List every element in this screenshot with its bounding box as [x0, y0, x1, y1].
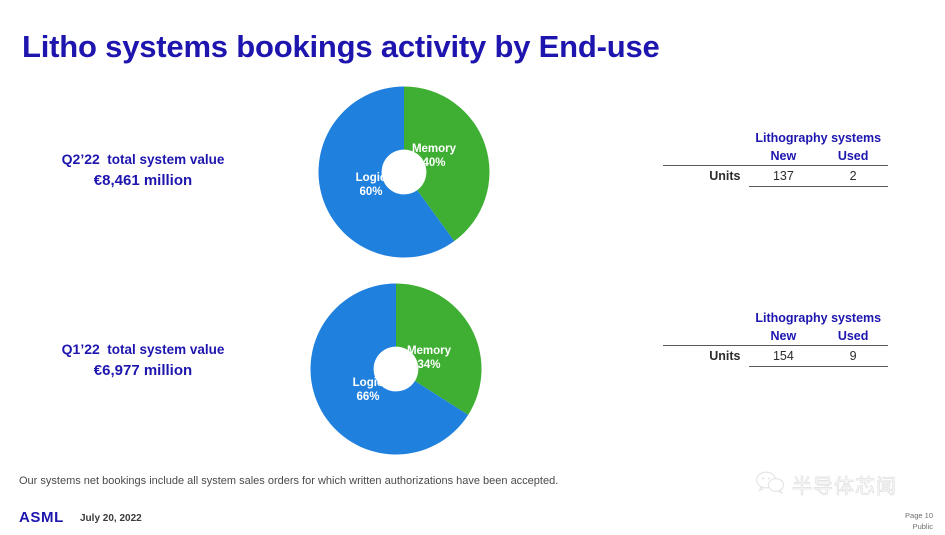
table-cell-used-q1: 9: [818, 346, 888, 367]
summary-line-q2: Q2’22 total system value: [8, 149, 278, 170]
page-title: Litho systems bookings activity by End-u…: [22, 29, 660, 65]
slice-label-logic-value-q1: 66%: [356, 391, 379, 403]
quarter-label-q1: Q1’22: [62, 341, 100, 357]
slice-label-logic-name-q1: Logic: [353, 377, 384, 389]
watermark: 半导体芯闻: [755, 470, 897, 499]
wechat-icon: [755, 470, 785, 499]
units-table-grid-q1: Lithography systems New Used Units 154 9: [663, 310, 888, 367]
page-number: Page 10: [905, 510, 933, 521]
slice-label-logic-value-q2: 60%: [359, 186, 382, 198]
table-corner-q2: [663, 148, 749, 166]
summary-value-q2: Q2’22 total system value €8,461 million: [8, 149, 278, 191]
donut-svg-q2: Memory 40% Logic 60%: [318, 86, 490, 258]
summary-amount-q1: €6,977 million: [8, 360, 278, 382]
summary-value-q1: Q1’22 total system value €6,977 million: [8, 339, 278, 381]
slice-label-memory-name-q1: Memory: [407, 345, 452, 357]
donut-chart-q2: Memory 40% Logic 60%: [318, 86, 490, 258]
table-cell-new-q1: 154: [749, 346, 819, 367]
asml-logo: ASML: [19, 509, 64, 526]
table-column-header-row-q1: New Used: [663, 328, 888, 346]
table-corner-q1: [663, 328, 749, 346]
slide-canvas: Litho systems bookings activity by End-u…: [0, 0, 945, 535]
units-table-q1: Lithography systems New Used Units 154 9: [663, 310, 888, 367]
summary-caption-q2: total system value: [107, 152, 224, 167]
quarter-label-q2: Q2’22: [62, 151, 100, 167]
table-column-header-row-q2: New Used: [663, 148, 888, 166]
footer-date: July 20, 2022: [80, 513, 142, 524]
slice-label-memory-name-q2: Memory: [412, 143, 457, 155]
table-group-header-q2: Lithography systems: [749, 130, 889, 148]
table-cell-used-q2: 2: [818, 166, 888, 187]
donut-chart-q1: Memory 34% Logic 66%: [310, 283, 482, 455]
classification-label: Public: [905, 521, 933, 532]
units-table-grid-q2: Lithography systems New Used Units 137 2: [663, 130, 888, 187]
table-row-label-units-q2: Units: [663, 166, 749, 187]
slice-label-logic-name-q2: Logic: [356, 172, 387, 184]
slice-label-memory-value-q2: 40%: [422, 157, 445, 169]
summary-amount-q2: €8,461 million: [8, 170, 278, 192]
table-row: Units 154 9: [663, 346, 888, 367]
summary-line-q1: Q1’22 total system value: [8, 339, 278, 360]
table-cell-new-q2: 137: [749, 166, 819, 187]
units-table-q2: Lithography systems New Used Units 137 2: [663, 130, 888, 187]
summary-caption-q1: total system value: [107, 342, 224, 357]
table-group-header-row-q2: Lithography systems: [663, 130, 888, 148]
footnote-text: Our systems net bookings include all sys…: [19, 475, 558, 487]
table-col-header-new-q2: New: [749, 148, 819, 166]
table-spacer-q1: [663, 310, 749, 328]
table-group-header-q1: Lithography systems: [749, 310, 889, 328]
donut-svg-q1: Memory 34% Logic 66%: [310, 283, 482, 455]
table-col-header-new-q1: New: [749, 328, 819, 346]
footer-meta: Page 10 Public: [905, 510, 933, 533]
table-col-header-used-q2: Used: [818, 148, 888, 166]
table-row-label-units-q1: Units: [663, 346, 749, 367]
donut-hole-q2: [382, 150, 427, 195]
table-row: Units 137 2: [663, 166, 888, 187]
table-col-header-used-q1: Used: [818, 328, 888, 346]
slice-label-memory-value-q1: 34%: [417, 359, 440, 371]
watermark-text: 半导体芯闻: [792, 470, 897, 499]
table-group-header-row-q1: Lithography systems: [663, 310, 888, 328]
table-spacer-q2: [663, 130, 749, 148]
